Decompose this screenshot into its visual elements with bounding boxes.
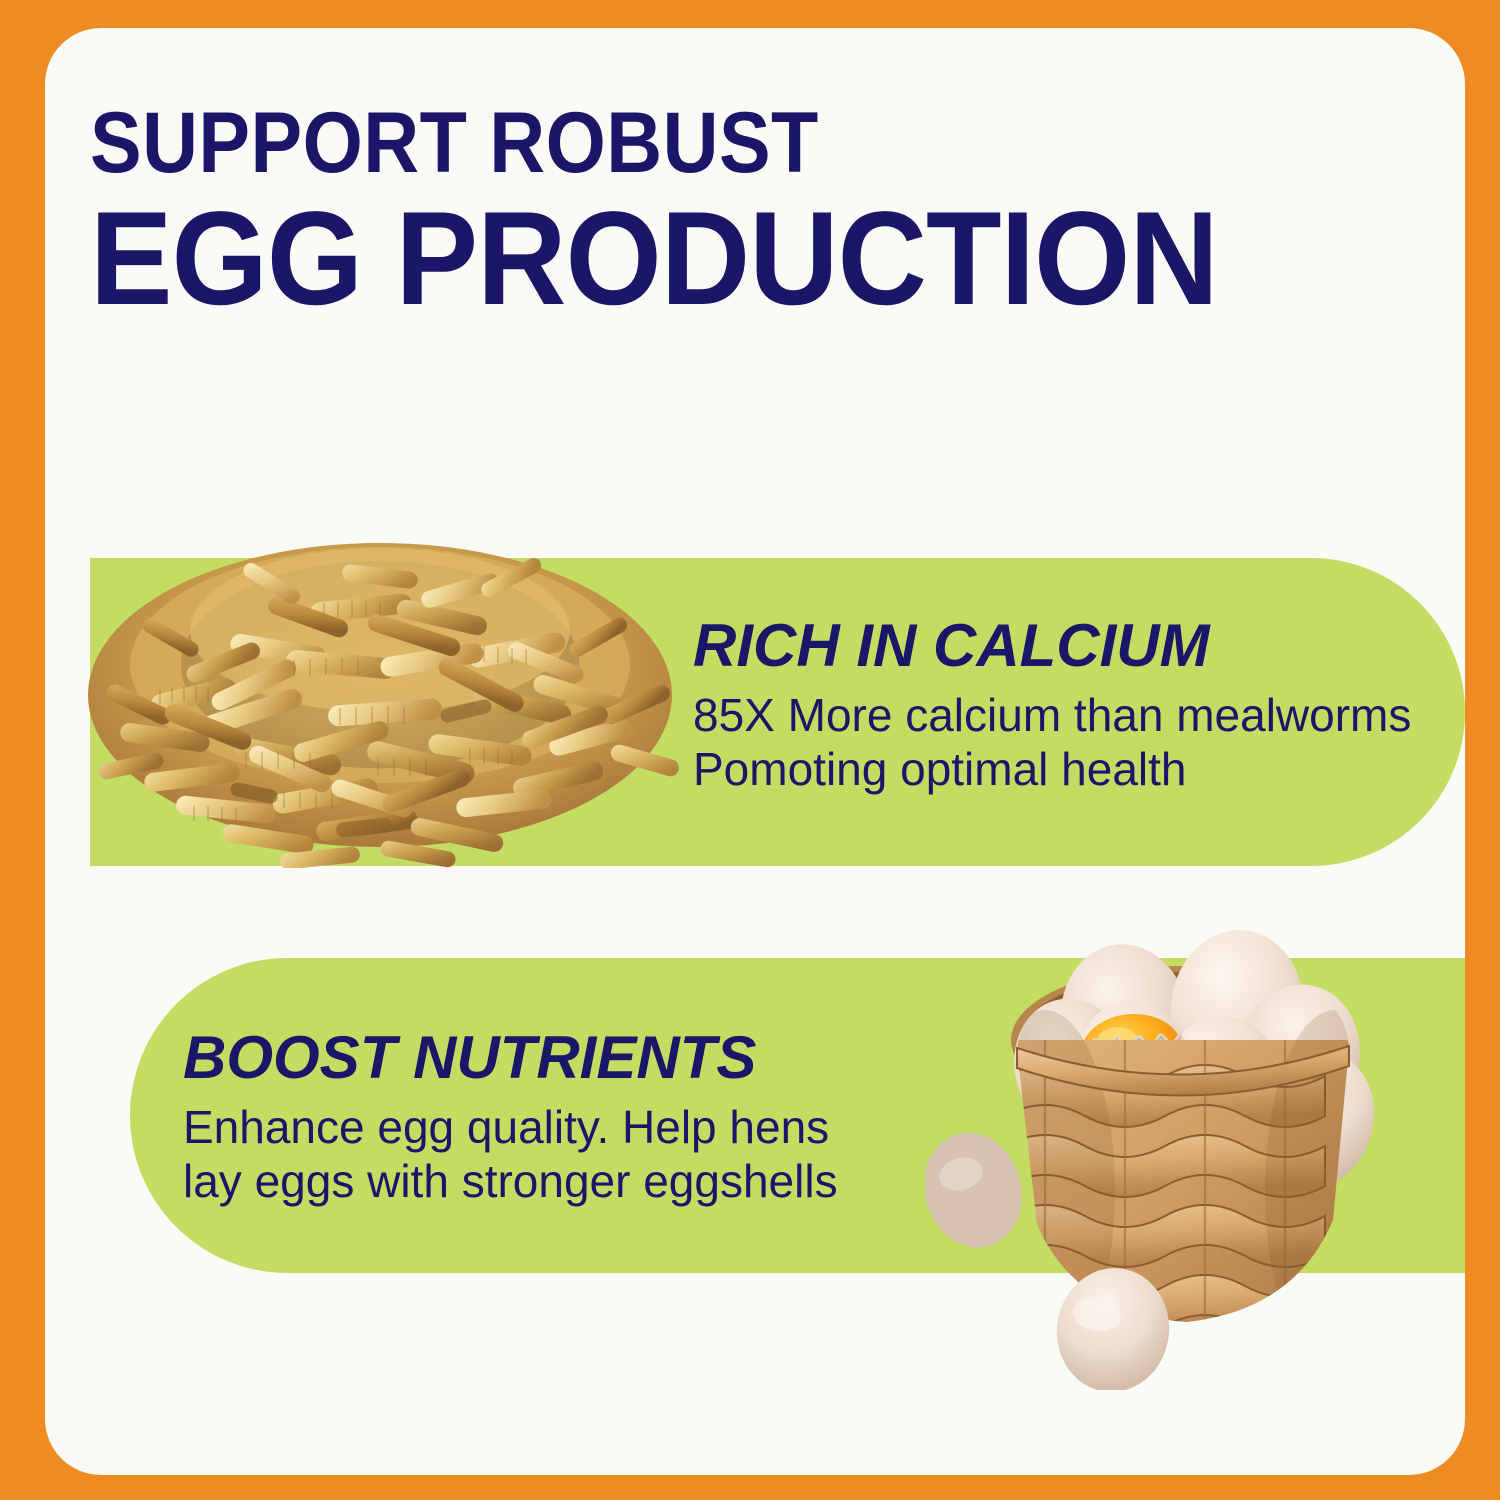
feature-calcium-body-line-1: 85X More calcium than mealworms <box>693 690 1411 742</box>
headline-line-2: EGG PRODUCTION <box>90 193 1392 326</box>
feature-nutrients-body-line-2: lay eggs with stronger eggshells <box>183 1156 838 1208</box>
feature-calcium-title: RICH IN CALCIUM <box>693 616 1411 676</box>
egg-basket-image <box>925 890 1445 1390</box>
dried-mealworms-pile-image <box>80 490 690 868</box>
feature-nutrients-title: BOOST NUTRIENTS <box>183 1028 838 1088</box>
feature-calcium-text: RICH IN CALCIUM 85X More calcium than me… <box>693 616 1411 796</box>
feature-calcium-body-line-2: Pomoting optimal health <box>693 744 1411 796</box>
product-infographic-poster: SUPPORT ROBUST EGG PRODUCTION <box>0 0 1500 1500</box>
headline-line-1: SUPPORT ROBUST <box>90 103 1350 185</box>
feature-nutrients-body-line-1: Enhance egg quality. Help hens <box>183 1102 838 1154</box>
white-content-card: SUPPORT ROBUST EGG PRODUCTION <box>45 28 1465 1475</box>
page-title: SUPPORT ROBUST EGG PRODUCTION <box>90 103 1465 326</box>
feature-nutrients-text: BOOST NUTRIENTS Enhance egg quality. Hel… <box>183 1028 838 1208</box>
